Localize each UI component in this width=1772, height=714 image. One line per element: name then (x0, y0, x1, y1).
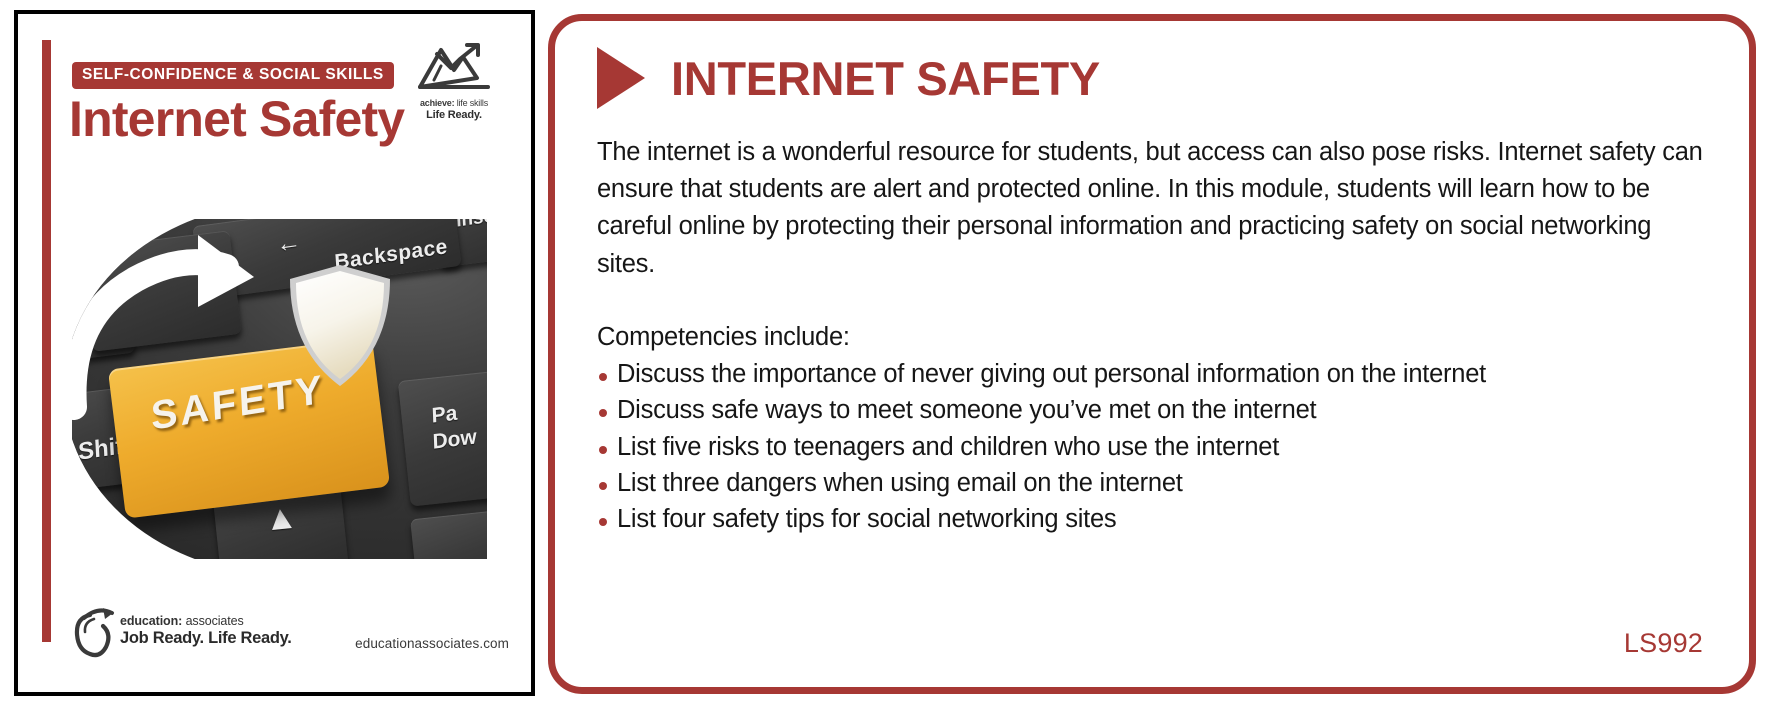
page-title: INTERNET SAFETY (671, 55, 1100, 102)
education-associates-logo: education: associates Job Ready. Life Re… (72, 606, 292, 658)
footer-website-url[interactable]: educationassociates.com (355, 636, 509, 651)
cover-photo: Insert ← Backspace PaDow Shift ▲ (72, 219, 487, 559)
footer-brand-light: associates (182, 614, 243, 628)
apple-swoosh-icon (72, 606, 116, 658)
description-paragraph: The internet is a wonderful resource for… (597, 134, 1703, 283)
curved-arrow-icon (72, 221, 286, 421)
description-body: The internet is a wonderful resource for… (597, 134, 1703, 537)
mountain-peaks-arrow-icon (417, 40, 491, 92)
keyboard-key-page-down-label: PaDow (431, 398, 477, 456)
competencies-list: Discuss the importance of never giving o… (597, 356, 1703, 537)
product-code: LS992 (1624, 628, 1703, 659)
competencies-heading: Competencies include: (597, 319, 1703, 356)
list-item: List three dangers when using email on t… (597, 465, 1703, 501)
description-header: INTERNET SAFETY (597, 47, 1100, 109)
brandmark-tagline-suffix: life skills (454, 98, 488, 108)
list-item: List five risks to teenagers and childre… (597, 429, 1703, 465)
up-arrow-icon: ▲ (262, 497, 300, 539)
list-item: Discuss safe ways to meet someone you’ve… (597, 392, 1703, 428)
footer-tagline: Job Ready. Life Ready. (120, 629, 292, 648)
list-item: List four safety tips for social network… (597, 501, 1703, 537)
product-cover-card: SELF-CONFIDENCE & SOCIAL SKILLS Internet… (14, 10, 535, 696)
achieve-brandmark: achieve: life skills Life Ready. (405, 40, 503, 121)
brandmark-tagline: achieve: life skills (405, 98, 503, 109)
description-panel: INTERNET SAFETY The internet is a wonder… (548, 14, 1756, 694)
list-item: Discuss the importance of never giving o… (597, 356, 1703, 392)
shield-icon (286, 263, 394, 389)
category-badge: SELF-CONFIDENCE & SOCIAL SKILLS (72, 62, 394, 89)
cover-footer: education: associates Job Ready. Life Re… (18, 602, 531, 672)
cover-title: Internet Safety (69, 92, 404, 147)
footer-brand-bold: education: (120, 614, 182, 628)
play-triangle-icon (597, 47, 645, 109)
brandmark-life-ready: Life Ready. (405, 109, 503, 121)
footer-brand: education: associates (120, 614, 292, 628)
cover-accent-bar (42, 40, 51, 642)
module-info-sheet: SELF-CONFIDENCE & SOCIAL SKILLS Internet… (0, 0, 1772, 714)
keyboard-photo-circle: Insert ← Backspace PaDow Shift ▲ (72, 219, 487, 559)
brandmark-tagline-prefix: achieve: (420, 98, 454, 108)
